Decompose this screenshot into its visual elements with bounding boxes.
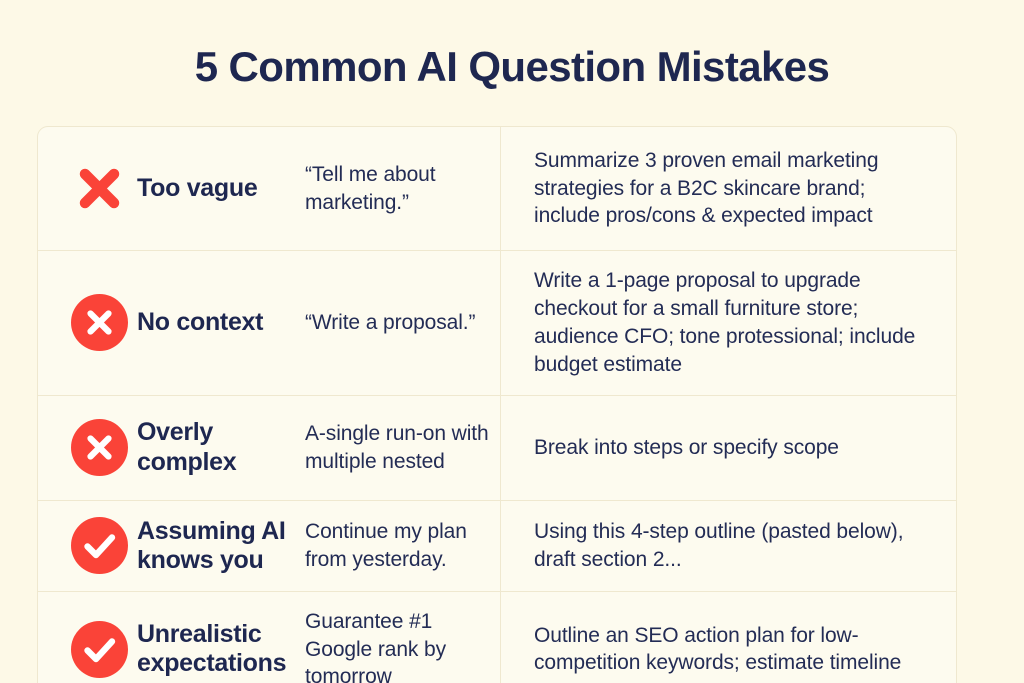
- table-row: Too vague “Tell me about marketing.” Sum…: [38, 127, 956, 251]
- table-row: Assuming AI knows you Continue my plan f…: [38, 501, 956, 593]
- mistake-example: Guarantee #1 Google rank by tomorrow: [305, 608, 494, 683]
- x-circle-icon: [71, 419, 128, 476]
- table-cell-better-prompt: Write a 1-page proposal to upgrade check…: [501, 251, 956, 395]
- mistake-example: “Tell me about marketing.”: [305, 161, 494, 216]
- table-cell-mistake: Unrealistic expectations Guarantee #1 Go…: [38, 592, 501, 683]
- table-cell-better-prompt: Outline an SEO action plan for low-compe…: [501, 592, 956, 683]
- mistake-label: Unrealistic expectations: [137, 620, 305, 679]
- table-cell-mistake: Overly complex A-single run-on with mult…: [38, 396, 501, 500]
- page-title: 5 Common AI Question Mistakes: [0, 43, 1024, 90]
- table-row: Overly complex A-single run-on with mult…: [38, 396, 956, 501]
- mistake-label: Assuming AI knows you: [137, 517, 305, 576]
- table-cell-mistake: Assuming AI knows you Continue my plan f…: [38, 501, 501, 592]
- table-row: No context “Write a proposal.” Write a 1…: [38, 251, 956, 396]
- mistake-example: A-single run-on with multiple nested: [305, 420, 494, 475]
- table-cell-mistake: Too vague “Tell me about marketing.”: [38, 127, 501, 250]
- mistake-example: “Write a proposal.”: [305, 309, 494, 337]
- table-row: Unrealistic expectations Guarantee #1 Go…: [38, 592, 956, 683]
- x-circle-icon: [71, 294, 128, 351]
- mistake-label: No context: [137, 308, 305, 337]
- check-circle-icon: [71, 621, 128, 678]
- mistake-label: Overly complex: [137, 418, 305, 477]
- mistake-label: Too vague: [137, 174, 305, 203]
- mistakes-table: Too vague “Tell me about marketing.” Sum…: [37, 126, 957, 683]
- table-cell-better-prompt: Summarize 3 proven email marketing strat…: [501, 127, 956, 250]
- table-cell-better-prompt: Using this 4-step outline (pasted below)…: [501, 501, 956, 592]
- check-circle-icon: [71, 517, 128, 574]
- table-cell-mistake: No context “Write a proposal.”: [38, 251, 501, 395]
- table-cell-better-prompt: Break into steps or specify scope: [501, 396, 956, 500]
- mistake-example: Continue my plan from yesterday.: [305, 518, 494, 573]
- x-mark-icon: [71, 160, 128, 217]
- infographic-page: 5 Common AI Question Mistakes Too vague …: [0, 0, 1024, 683]
